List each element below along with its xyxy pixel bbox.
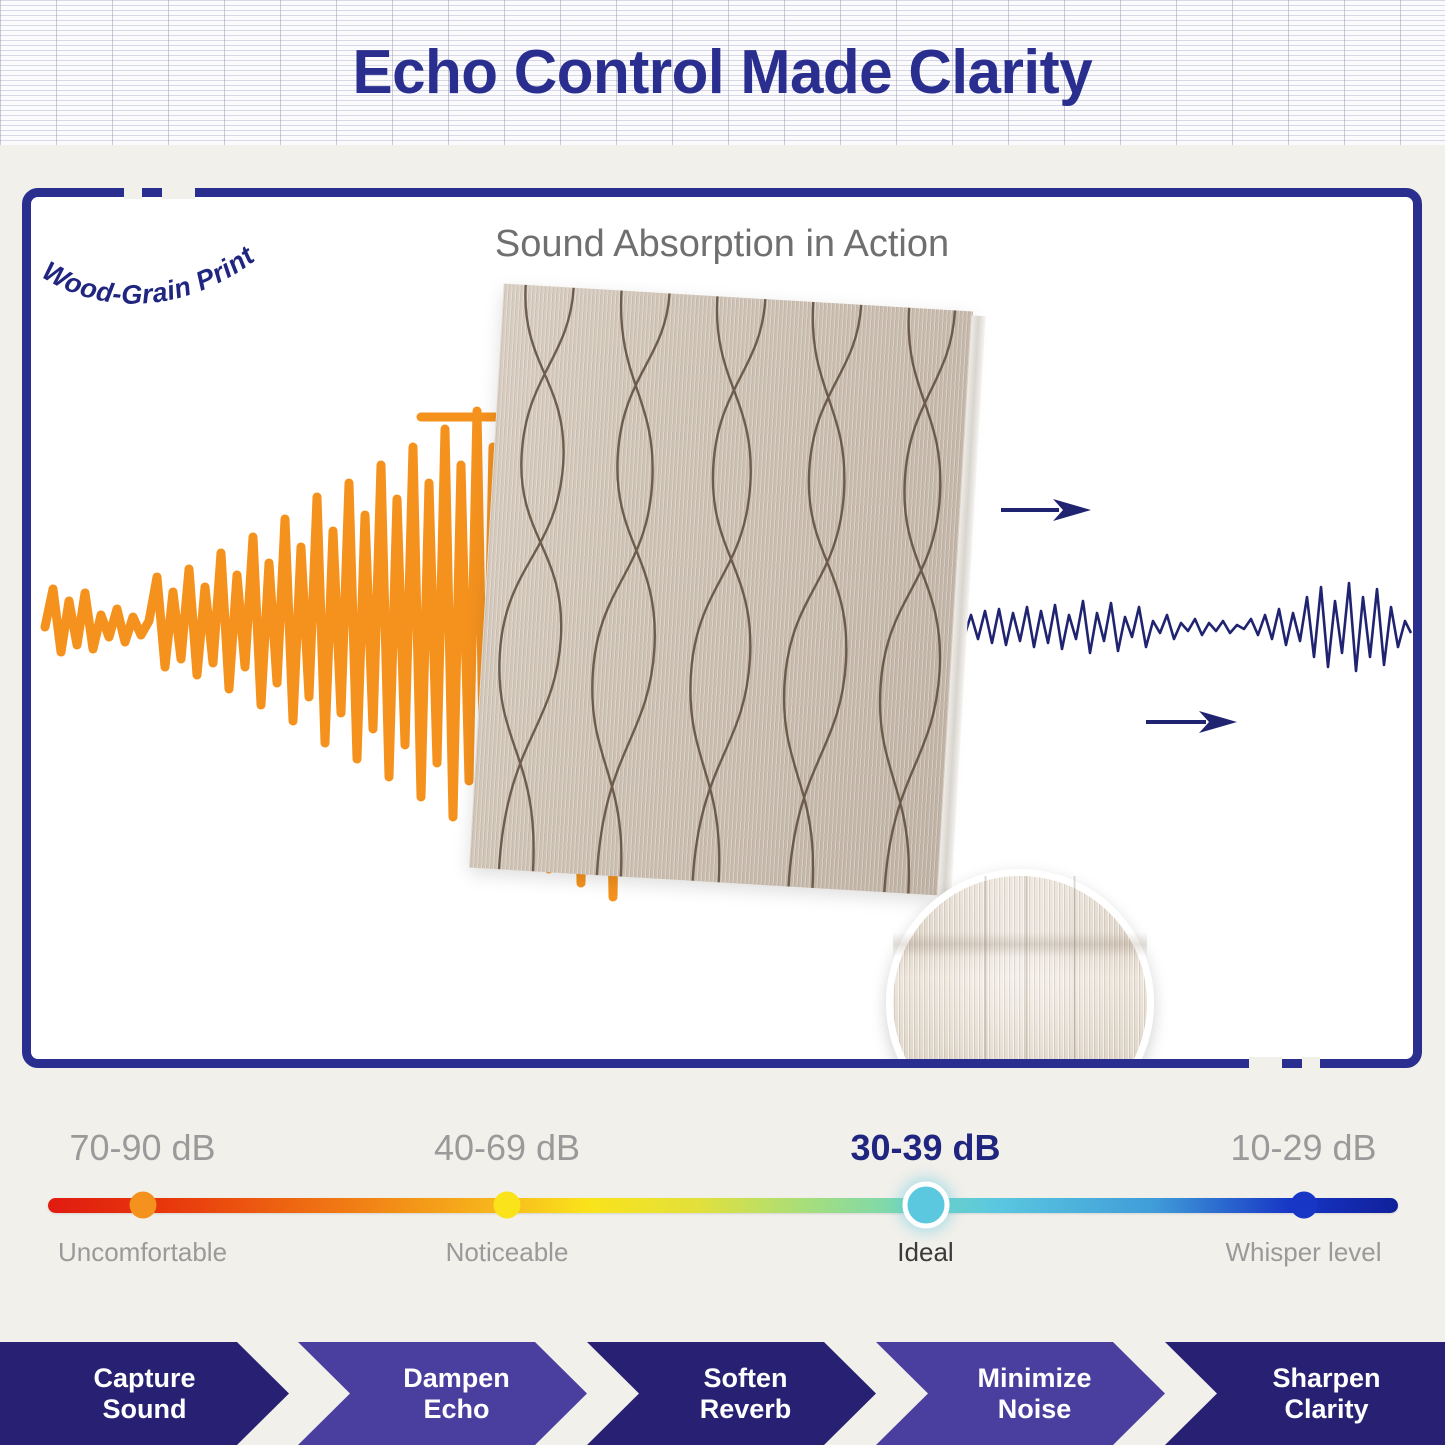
header-banner: Echo Control Made Clarity: [0, 0, 1445, 145]
flow-step-line2: Sound: [93, 1394, 195, 1424]
db-marker-dot-0[interactable]: [129, 1192, 156, 1219]
grain-line: [984, 876, 987, 1068]
flow-step-line1: Dampen: [403, 1363, 510, 1393]
grain-band: [893, 932, 1147, 957]
grain-band: [893, 1059, 1147, 1068]
flow-step-label: SoftenReverb: [672, 1363, 792, 1423]
flow-step-line2: Reverb: [700, 1394, 792, 1424]
wood-grain-callout-label: Wood-Grain Print: [37, 240, 260, 310]
border-dash-gap: [1302, 1057, 1320, 1068]
wood-grain-callout: Wood-Grain Print: [31, 197, 361, 337]
grain-line: [1025, 876, 1028, 1068]
page-title: Echo Control Made Clarity: [353, 37, 1093, 108]
db-marker-dot-3[interactable]: [1290, 1192, 1317, 1219]
flow-step-2[interactable]: DampenEcho: [298, 1342, 587, 1445]
flow-step-label: DampenEcho: [375, 1363, 510, 1423]
db-level-name-3: Whisper level: [1225, 1237, 1381, 1268]
db-level-name-2: Ideal: [897, 1237, 953, 1268]
flow-step-label: SharpenClarity: [1238, 1363, 1380, 1423]
flow-step-line1: Minimize: [977, 1363, 1091, 1393]
flow-step-label: MinimizeNoise: [949, 1363, 1091, 1423]
process-flow: CaptureSoundDampenEchoSoftenReverbMinimi…: [0, 1342, 1445, 1445]
db-marker-dot-1[interactable]: [494, 1192, 521, 1219]
db-level-scale: 70-90 dBUncomfortable40-69 dBNoticeable3…: [0, 1095, 1445, 1310]
db-level-name-0: Uncomfortable: [58, 1237, 227, 1268]
db-level-name-1: Noticeable: [446, 1237, 569, 1268]
flow-step-line2: Noise: [977, 1394, 1091, 1424]
illustration-panel: Sound Absorption in Action: [22, 188, 1422, 1068]
flow-step-line1: Soften: [700, 1363, 792, 1393]
panel-frame: Sound Absorption in Action: [22, 188, 1422, 1068]
db-range-label-0: 70-90 dB: [69, 1127, 215, 1169]
navy-arrow-bottom: [1146, 711, 1237, 733]
acoustic-panel-tile: [469, 284, 973, 896]
illustration-stage: Wood-Grain Print: [31, 197, 1413, 1059]
flow-step-line2: Clarity: [1272, 1394, 1380, 1424]
navy-arrow-top: [1001, 499, 1091, 521]
border-dash-gap: [1249, 1057, 1282, 1068]
flow-step-line1: Capture: [93, 1363, 195, 1393]
flow-step-label: CaptureSound: [93, 1363, 195, 1423]
db-range-label-2: 30-39 dB: [850, 1127, 1000, 1169]
flow-step-5[interactable]: SharpenClarity: [1165, 1342, 1445, 1445]
flow-step-4[interactable]: MinimizeNoise: [876, 1342, 1165, 1445]
db-gradient-bar: [48, 1198, 1398, 1213]
flow-step-1[interactable]: CaptureSound: [0, 1342, 289, 1445]
flow-step-3[interactable]: SoftenReverb: [587, 1342, 876, 1445]
db-range-label-1: 40-69 dB: [434, 1127, 580, 1169]
svg-text:Wood-Grain Print: Wood-Grain Print: [37, 240, 260, 310]
tile-wave-pattern: [469, 284, 973, 896]
db-marker-dot-2[interactable]: [902, 1182, 949, 1229]
flow-step-line1: Sharpen: [1272, 1363, 1380, 1393]
db-range-label-3: 10-29 dB: [1230, 1127, 1376, 1169]
flow-step-line2: Echo: [403, 1394, 510, 1424]
grain-line: [1073, 876, 1076, 1068]
